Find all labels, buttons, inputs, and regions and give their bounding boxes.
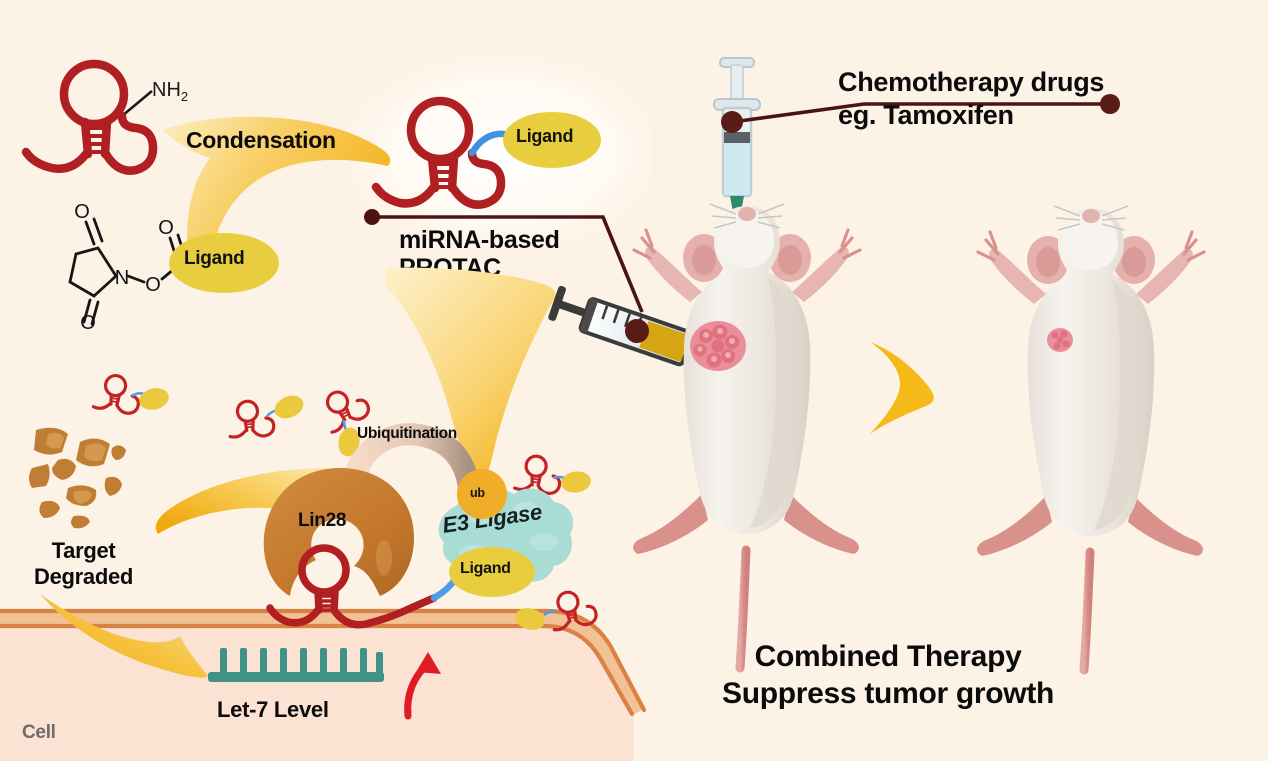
chemo-label-line2: eg. Tamoxifen xyxy=(838,99,1104,132)
target-degraded-label: Target Degraded xyxy=(34,538,133,591)
mouse-left-treated xyxy=(628,198,868,668)
ubiquitination-label: Ubiquitination xyxy=(357,425,457,442)
transition-arrow xyxy=(866,340,970,436)
let7-level-label: Let-7 Level xyxy=(217,698,329,723)
combined-therapy-caption: Combined Therapy Suppress tumor growth xyxy=(722,638,1054,712)
graphical-abstract-canvas: NH2 Condensation xyxy=(0,0,1268,761)
chemo-label-line1: Chemotherapy drugs xyxy=(838,66,1104,99)
combined-caption-line2: Suppress tumor growth xyxy=(722,675,1054,712)
chemotherapy-label: Chemotherapy drugs eg. Tamoxifen xyxy=(838,66,1104,132)
ligand-label-e3: Ligand xyxy=(460,560,511,578)
let7-increase-arrow xyxy=(400,650,456,722)
let7-rna-icon xyxy=(208,646,388,686)
nitrogen-atom: N xyxy=(115,267,129,289)
oxygen-atom-ester: O xyxy=(145,274,161,296)
ligand-label-reagent: Ligand xyxy=(184,248,244,269)
protac-label-line1: miRNA-based xyxy=(399,226,560,254)
oxygen-atom-top: O xyxy=(74,201,90,223)
oxygen-atom-bottom: O xyxy=(80,312,96,334)
condensation-label: Condensation xyxy=(186,128,336,154)
target-degraded-line2: Degraded xyxy=(34,564,133,590)
free-protac-1 xyxy=(92,372,176,426)
ub-label: ub xyxy=(470,486,485,500)
tumor-large xyxy=(690,321,746,371)
cell-label: Cell xyxy=(22,722,56,743)
combined-caption-line1: Combined Therapy xyxy=(722,638,1054,675)
mouse-right-suppressed xyxy=(972,200,1212,670)
ligand-label-protac: Ligand xyxy=(516,126,573,146)
free-protac-2 xyxy=(226,392,310,446)
tumor-small xyxy=(1047,328,1073,352)
target-degraded-line1: Target xyxy=(34,538,133,564)
lin28-label: Lin28 xyxy=(298,510,346,531)
